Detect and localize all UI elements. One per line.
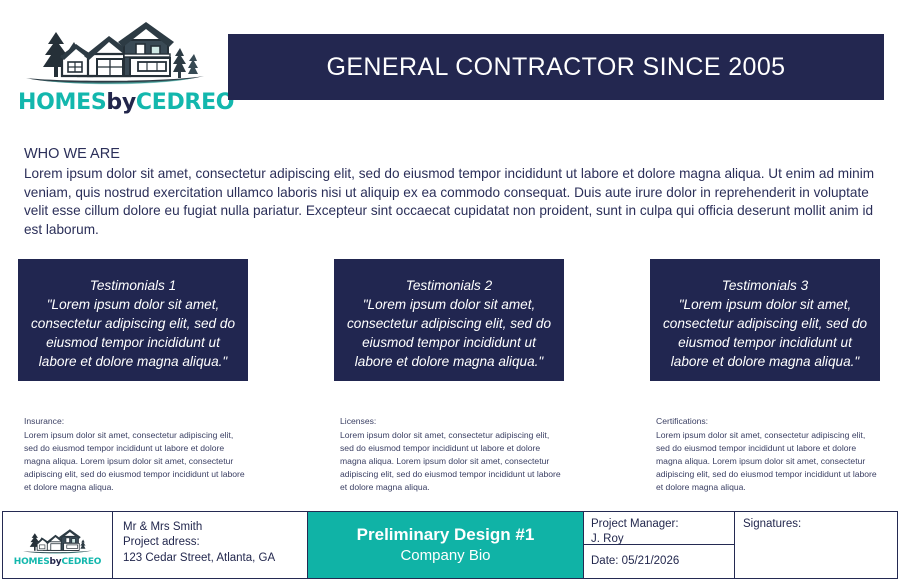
page-header: HOMESbyCEDREO GENERAL CONTRACTOR SINCE 2… [0,0,900,128]
footer-brand-wordmark: HOMESbyCEDREO [14,556,101,568]
testimonials-section: Testimonials 1 "Lorem ipsum dolor sit am… [18,259,882,381]
testimonial-quote: "Lorem ipsum dolor sit amet, consectetur… [26,295,240,371]
design-subtitle: Company Bio [400,546,490,566]
project-manager-block: Project Manager: J. Roy [584,512,734,545]
footer-wordmark-homes: HOMES [14,557,50,567]
header-banner-title: GENERAL CONTRACTOR SINCE 2005 [327,53,786,82]
credential-column-insurance: Insurance: Lorem ipsum dolor sit amet, c… [24,415,246,494]
testimonial-card: Testimonials 2 "Lorem ipsum dolor sit am… [334,259,564,381]
about-body: Lorem ipsum dolor sit amet, consectetur … [24,165,880,239]
header-banner: GENERAL CONTRACTOR SINCE 2005 [228,34,884,100]
project-manager-label: Project Manager: [591,517,734,532]
contractor-bio-page: HOMESbyCEDREO GENERAL CONTRACTOR SINCE 2… [0,0,900,581]
brand-wordmark-homes: HOMES [18,90,106,115]
footer-signatures-cell[interactable]: Signatures: [735,512,897,578]
footer-wordmark-cedreo: CEDREO [61,557,101,567]
about-section: WHO WE ARE Lorem ipsum dolor sit amet, c… [24,144,880,239]
credential-body: Lorem ipsum dolor sit amet, consectetur … [24,429,246,494]
footer-project-manager-cell: Project Manager: J. Roy Date: 05/21/2026 [583,512,735,578]
about-heading: WHO WE ARE [24,144,880,164]
credentials-section: Insurance: Lorem ipsum dolor sit amet, c… [24,415,882,500]
credential-body: Lorem ipsum dolor sit amet, consectetur … [656,429,878,494]
testimonial-title: Testimonials 3 [658,276,872,295]
house-logo-icon [20,526,96,556]
brand-wordmark-cedreo: CEDREO [136,90,234,115]
testimonial-card: Testimonials 3 "Lorem ipsum dolor sit am… [650,259,880,381]
testimonial-title: Testimonials 1 [26,276,240,295]
brand-wordmark: HOMESbyCEDREO [18,90,213,116]
credential-label: Certifications: [656,415,878,428]
credential-label: Licenses: [340,415,562,428]
testimonial-quote: "Lorem ipsum dolor sit amet, consectetur… [342,295,556,371]
brand-logo: HOMESbyCEDREO [18,14,213,118]
project-address-label: Project adress: [123,535,307,550]
project-date: Date: 05/21/2026 [584,545,734,578]
testimonial-title: Testimonials 2 [342,276,556,295]
page-footer: HOMESbyCEDREO Mr & Mrs Smith Project adr… [2,511,898,579]
credential-column-certifications: Certifications: Lorem ipsum dolor sit am… [656,415,878,494]
design-title: Preliminary Design #1 [357,524,535,546]
testimonial-quote: "Lorem ipsum dolor sit amet, consectetur… [658,295,872,371]
credential-label: Insurance: [24,415,246,428]
footer-client-cell: Mr & Mrs Smith Project adress: 123 Cedar… [113,512,308,578]
footer-wordmark-by: by [50,557,62,567]
house-logo-icon [18,14,213,90]
credential-column-licenses: Licenses: Lorem ipsum dolor sit amet, co… [340,415,562,494]
client-name: Mr & Mrs Smith [123,520,307,535]
footer-design-cell: Preliminary Design #1 Company Bio [308,512,583,578]
testimonial-card: Testimonials 1 "Lorem ipsum dolor sit am… [18,259,248,381]
project-address-value: 123 Cedar Street, Atlanta, GA [123,551,307,566]
credential-body: Lorem ipsum dolor sit amet, consectetur … [340,429,562,494]
brand-wordmark-by: by [106,90,136,115]
footer-logo-cell: HOMESbyCEDREO [3,512,113,578]
signatures-label: Signatures: [743,517,897,532]
